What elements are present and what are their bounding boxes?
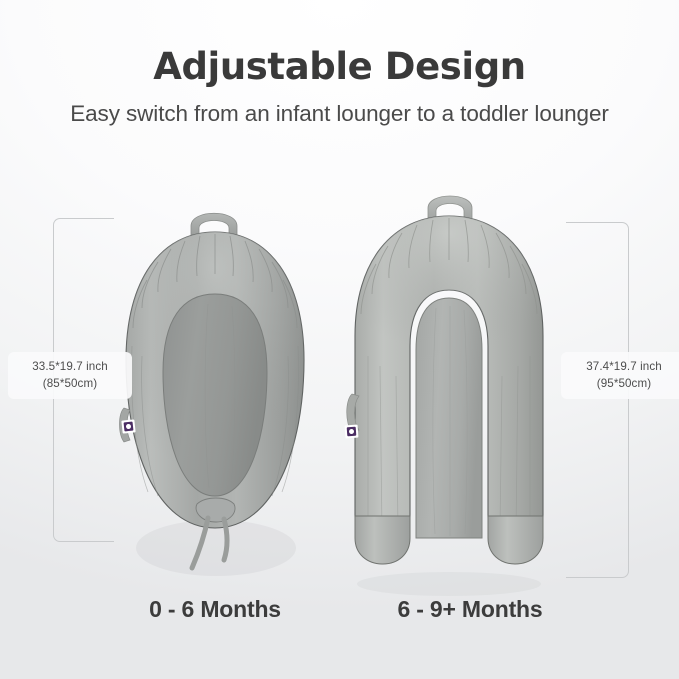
product-image-toddler-lounger	[338, 186, 560, 596]
bumper-arm-left-toddler	[355, 516, 410, 564]
bottom-tie-knot-infant	[196, 498, 235, 522]
dimension-cm-toddler: (95*50cm)	[568, 375, 679, 392]
dimension-inch-infant: 33.5*19.7 inch	[32, 360, 108, 373]
brand-tag-icon-toddler	[345, 425, 359, 439]
product-infographic: Adjustable Design Easy switch from an in…	[0, 0, 679, 679]
dimension-label-toddler: 37.4*19.7 inch (95*50cm)	[561, 352, 679, 399]
page-subtitle: Easy switch from an infant lounger to a …	[0, 90, 679, 128]
header: Adjustable Design Easy switch from an in…	[0, 0, 679, 128]
page-title: Adjustable Design	[0, 0, 679, 90]
product-image-infant-lounger	[112, 196, 317, 596]
bumper-arm-right-toddler	[488, 516, 543, 564]
brand-chip-toddler	[347, 427, 357, 437]
brand-tag-icon-infant	[121, 419, 135, 433]
dimension-label-infant: 33.5*19.7 inch (85*50cm)	[8, 352, 132, 399]
brand-chip-infant	[124, 422, 134, 432]
caption-toddler-lounger: 6 - 9+ Months	[345, 596, 595, 623]
dimension-inch-toddler: 37.4*19.7 inch	[586, 360, 662, 373]
caption-infant-lounger: 0 - 6 Months	[90, 596, 340, 623]
dimension-cm-infant: (85*50cm)	[15, 375, 125, 392]
mattress-toddler	[416, 298, 482, 538]
